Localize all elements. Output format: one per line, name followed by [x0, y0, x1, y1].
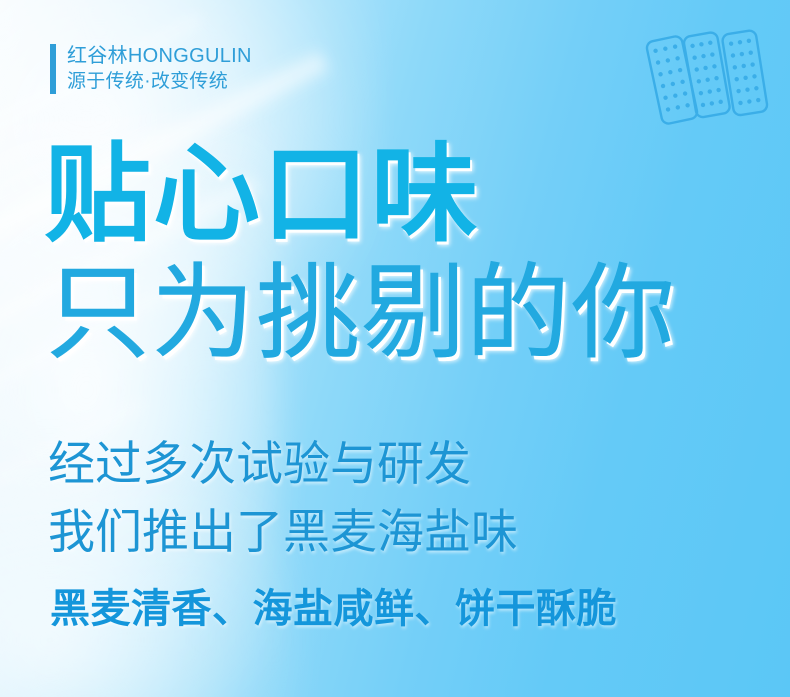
headline-secondary: 只为挑剔的你 [46, 262, 676, 366]
brand-name: 红谷林HONGGULIN [67, 44, 252, 69]
subcopy-block: 经过多次试验与研发 我们推出了黑麦海盐味 [48, 430, 518, 566]
brand-slogan: 源于传统·改变传统 [67, 69, 252, 94]
subcopy-line-1: 经过多次试验与研发 [48, 430, 518, 498]
brand-lockup: 红谷林HONGGULIN 源于传统·改变传统 [50, 44, 252, 94]
brand-text-group: 红谷林HONGGULIN 源于传统·改变传统 [67, 44, 252, 94]
headline-primary: 贴心口味 [44, 141, 480, 248]
subcopy-line-2: 我们推出了黑麦海盐味 [48, 498, 518, 566]
product-tagline: 黑麦清香、海盐咸鲜、饼干酥脆 [50, 585, 617, 633]
crackers-illustration [636, 22, 776, 132]
crackers-icon [636, 22, 776, 132]
promo-poster: 红谷林HONGGULIN 源于传统·改变传统 [0, 0, 790, 697]
brand-accent-bar [50, 44, 56, 94]
